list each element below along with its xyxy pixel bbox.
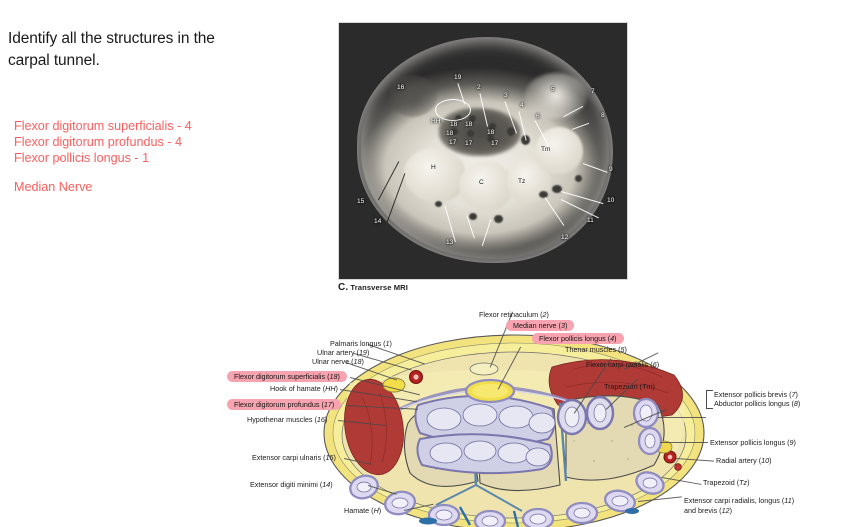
mri-label-Tm: Tm — [541, 147, 551, 154]
mri-label-5: 5 — [551, 87, 555, 94]
mri-caption-text: Transverse MRI — [350, 283, 408, 292]
mri-label-Tz: Tz — [518, 179, 525, 186]
label-extensor-pollicis-brevis: Extensor pollicis brevis (7) — [714, 391, 798, 399]
label-flexor-retinaculum: Flexor retinaculum (2) — [479, 311, 549, 319]
label-radial-artery: Radial artery (10) — [716, 457, 772, 465]
mri-caption: C. Transverse MRI — [338, 282, 408, 293]
answer-line-1: Flexor digitorum superficialis - 4 — [14, 118, 264, 134]
label-median-nerve: Median nerve (3) — [506, 320, 574, 331]
mri-label-12: 12 — [561, 235, 568, 242]
answer-line-2: Flexor digitorum profundus - 4 — [14, 134, 264, 150]
label-extensor-carpi-ulnaris: Extensor carpi ulnaris (15) — [252, 454, 336, 462]
answer-line-median-nerve: Median Nerve — [14, 179, 264, 195]
mri-thenar-fat — [525, 73, 587, 119]
label-ulnar-nerve: Ulnar nerve (18) — [312, 358, 364, 366]
mri-hamate-bone — [404, 148, 466, 202]
label-flexor-carpi-radialis: Flexor carpi radialis (6) — [586, 361, 659, 369]
mri-label-17: 17 — [449, 140, 456, 147]
label-flexor-digitorum-superficialis: Flexor digitorum superficialis (18) — [227, 371, 347, 382]
label-extensor-carpi-radialis-longus: Extensor carpi radialis, longus (11) — [684, 497, 794, 505]
mri-tendon-dot — [494, 215, 503, 223]
transverse-mri-image: 19 2 3 4 5 6 7 8 9 10 11 12 13 14 15 16 … — [338, 22, 628, 280]
mri-label-18: 18 — [450, 122, 457, 129]
question-panel: Identify all the structures in the carpa… — [8, 28, 248, 72]
mri-label-4: 4 — [520, 103, 524, 110]
label-extensor-pollicis-longus: Extensor pollicis longus (9) — [710, 439, 796, 447]
mri-label-10: 10 — [607, 198, 614, 205]
mri-label-11: 11 — [587, 218, 594, 225]
label-hypothenar-muscles: Hypothenar muscles (16) — [247, 416, 327, 424]
mri-label-8: 8 — [601, 113, 605, 120]
mri-label-13: 13 — [446, 240, 453, 247]
mri-label-16: 16 — [397, 85, 404, 92]
label-ulnar-artery: Ulnar artery (19) — [317, 349, 369, 357]
label-flexor-pollicis-longus: Flexor pollicis longus (4) — [532, 333, 624, 344]
mri-tendon-dot — [469, 213, 477, 220]
label-trapezoid: Trapezoid (Tz) — [703, 479, 749, 487]
mri-tendon-dot — [435, 201, 442, 207]
answer-spacer — [14, 166, 264, 179]
mri-label-6: 6 — [536, 114, 540, 121]
mri-tendon-dot — [467, 130, 474, 137]
mri-label-17: 17 — [465, 141, 472, 148]
label-thenar-muscles: Thenar muscles (5) — [565, 346, 627, 354]
label-flexor-digitorum-profundus: Flexor digitorum profundus (17) — [227, 399, 341, 410]
label-hook-of-hamate: Hook of hamate (HH) — [270, 385, 338, 393]
mri-label-14: 14 — [374, 219, 381, 226]
question-text: Identify all the structures in the carpa… — [8, 28, 248, 72]
mri-label-7: 7 — [591, 89, 595, 96]
mri-frame: 19 2 3 4 5 6 7 8 9 10 11 12 13 14 15 16 … — [338, 22, 628, 280]
mri-label-18: 18 — [487, 130, 494, 137]
mri-label-H: H — [431, 165, 436, 172]
mri-capitate-bone — [459, 161, 513, 211]
mri-tendon-dot — [575, 175, 582, 182]
label-and-brevis: and brevis (12) — [684, 507, 732, 515]
mri-label-HH: HH — [431, 119, 441, 126]
mri-caption-letter: C. — [338, 282, 348, 293]
carpal-tunnel-cross-section-illustration: Palmaris longus (1) Ulnar artery (19) Ul… — [222, 305, 847, 527]
mri-label-9: 9 — [609, 167, 613, 174]
answer-line-3: Flexor pollicis longus - 1 — [14, 150, 264, 166]
epb-apl-bracket — [706, 390, 713, 409]
answer-list: Flexor digitorum superficialis - 4 Flexo… — [14, 118, 264, 195]
leader-epb-apl — [658, 417, 706, 418]
mri-label-18: 18 — [446, 131, 453, 138]
mri-hypothenar-mass — [389, 75, 437, 117]
label-abductor-pollicis-longus: Abductor pollicis longus (8) — [714, 400, 800, 408]
mri-label-3: 3 — [504, 93, 508, 100]
mri-label-C: C — [479, 180, 484, 187]
label-extensor-digiti-minimi: Extensor digiti minimi (14) — [250, 481, 333, 489]
mri-label-15: 15 — [357, 199, 364, 206]
mri-label-19: 19 — [454, 75, 461, 82]
mri-label-2: 2 — [477, 85, 481, 92]
label-palmaris-longus: Palmaris longus (1) — [330, 340, 392, 348]
mri-label-17: 17 — [491, 141, 498, 148]
label-hamate: Hamate (H) — [344, 507, 381, 515]
leader-epl — [660, 442, 708, 443]
mri-label-18: 18 — [465, 122, 472, 129]
label-trapezium: Trapezium (Tm) — [604, 383, 655, 391]
